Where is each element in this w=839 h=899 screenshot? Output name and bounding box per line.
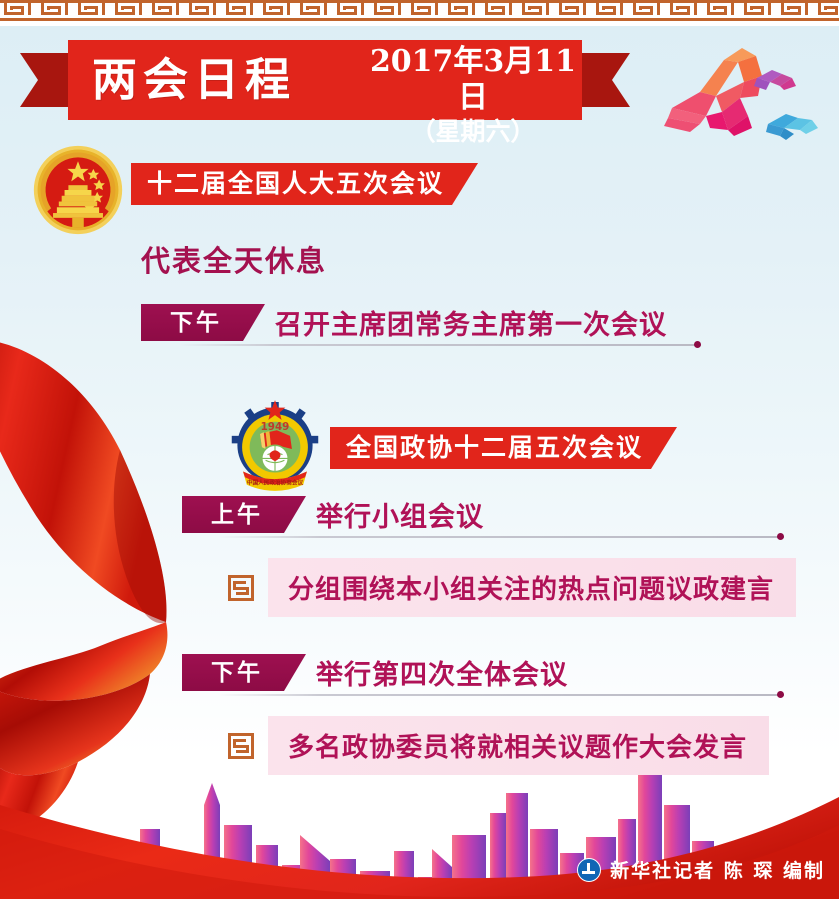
meander-key-unit [370, 0, 407, 21]
period-tag: 上午 [182, 496, 306, 533]
svg-text:中国人民政治协商会议: 中国人民政治协商会议 [247, 479, 304, 487]
meander-key-unit [37, 0, 74, 21]
row-text: 召开主席团常务主席第一次会议 [275, 303, 667, 342]
seal-icon [228, 575, 254, 601]
meander-key-unit [222, 0, 259, 21]
seal-icon [228, 733, 254, 759]
xinhua-logo-icon [577, 858, 601, 882]
header-ribbon: 两会日程 2017年3月11日 （星期六） [68, 40, 582, 120]
cppcc-emblem: 1949 中国人民政治协商会议 [228, 400, 322, 498]
meander-key-unit [333, 0, 370, 21]
detail-text: 多名政协委员将就相关议题作大会发言 [268, 716, 769, 775]
bird-small-blue [766, 114, 818, 140]
meander-key-unit [481, 0, 518, 21]
cppcc-row1-underline [218, 694, 784, 696]
header-weekday: （星期六） [368, 116, 578, 148]
meander-key-unit [592, 0, 629, 21]
page-title: 两会日程 [92, 48, 296, 112]
row-text: 举行小组会议 [316, 495, 484, 534]
meander-key-unit [259, 0, 296, 21]
meander-key-unit [185, 0, 222, 21]
section-title-npc: 十二届全国人大五次会议 [131, 163, 478, 205]
npc-row-enddot [694, 341, 701, 348]
meander-key-unit [296, 0, 333, 21]
meander-key-unit [111, 0, 148, 21]
cppcc-row-afternoon: 下午 举行第四次全体会议 [182, 653, 568, 692]
credit-line: 新华社记者 陈 琛 编制 [577, 856, 825, 883]
meander-key-unit [629, 0, 666, 21]
header-date: 2017年3月11日 [368, 44, 578, 116]
section-title-npc-wrap: 十二届全国人大五次会议 [131, 163, 478, 205]
meander-key-unit [666, 0, 703, 21]
section-title-cppcc: 全国政协十二届五次会议 [330, 427, 677, 469]
cppcc-detail-afternoon: 多名政协委员将就相关议题作大会发言 [228, 716, 769, 775]
period-tag: 下午 [182, 654, 306, 691]
meander-key-unit [407, 0, 444, 21]
meander-key-unit [0, 0, 37, 21]
npc-row-underline [179, 344, 701, 346]
cppcc-row0-underline [218, 536, 784, 538]
detail-text: 分组围绕本小组关注的热点问题议政建言 [268, 558, 796, 617]
meander-keys [0, 0, 839, 21]
credit-text: 新华社记者 陈 琛 编制 [610, 856, 825, 883]
national-emblem-of-china [30, 142, 126, 238]
meander-key-unit [777, 0, 814, 21]
top-meander-border [0, 0, 839, 26]
meander-key-unit [814, 0, 839, 21]
cppcc-row-morning: 上午 举行小组会议 [182, 495, 484, 534]
row-text: 举行第四次全体会议 [316, 653, 568, 692]
meander-key-unit [555, 0, 592, 21]
meander-key-unit [148, 0, 185, 21]
cppcc-detail-morning: 分组围绕本小组关注的热点问题议政建言 [228, 558, 796, 617]
npc-row-afternoon: 下午 召开主席团常务主席第一次会议 [141, 303, 667, 342]
poster-root: 两会日程 2017年3月11日 （星期六） [0, 0, 839, 899]
cppcc-row1-enddot [777, 691, 784, 698]
meander-key-unit [444, 0, 481, 21]
meander-key-unit [518, 0, 555, 21]
meander-key-unit [703, 0, 740, 21]
cppcc-row0-enddot [777, 533, 784, 540]
meander-key-unit [740, 0, 777, 21]
meander-key-unit [74, 0, 111, 21]
bird-large-orange [664, 48, 762, 136]
npc-notice: 代表全天休息 [141, 238, 327, 280]
section-title-cppcc-wrap: 全国政协十二届五次会议 [330, 427, 677, 469]
header-date-block: 2017年3月11日 （星期六） [368, 44, 578, 148]
